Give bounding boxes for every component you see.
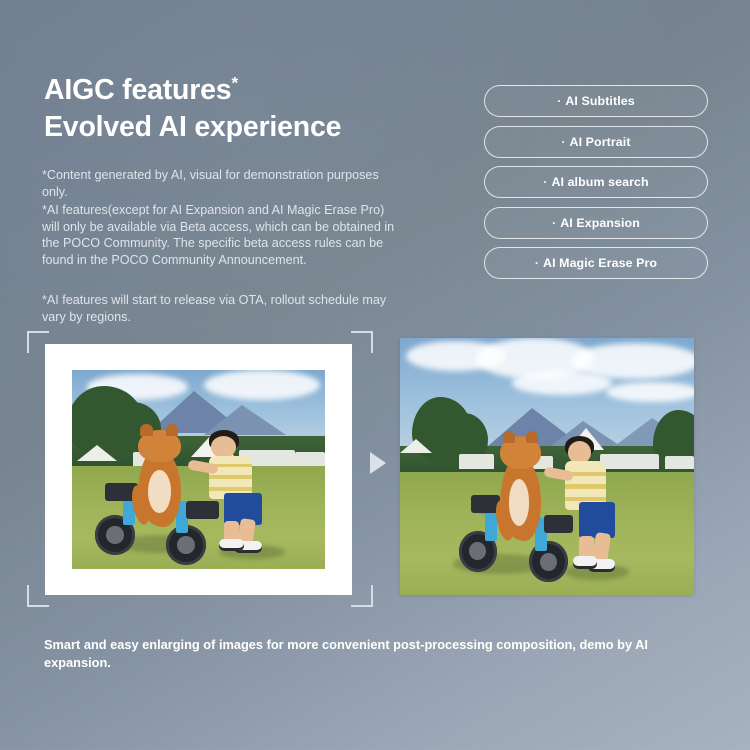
bottom-caption: Smart and easy enlarging of images for m… — [44, 636, 704, 671]
promo-slide: AIGC features* Evolved AI experience *Co… — [0, 0, 750, 750]
bullet-icon: · — [561, 135, 565, 149]
feature-pill-ai-subtitles[interactable]: · AI Subtitles — [484, 85, 708, 117]
feature-pill-ai-expansion[interactable]: · AI Expansion — [484, 207, 708, 239]
photo-scene-after — [400, 338, 694, 595]
legal-note-1: *Content generated by AI, visual for dem… — [42, 167, 402, 200]
dog-chest — [148, 470, 171, 514]
before-photo-frame — [45, 344, 352, 595]
dog-chest — [509, 479, 530, 525]
feature-pill-ai-portrait[interactable]: · AI Portrait — [484, 126, 708, 158]
dog-ear — [166, 424, 179, 436]
bullet-icon: · — [543, 175, 547, 189]
feature-pill-ai-album-search[interactable]: · AI album search — [484, 166, 708, 198]
boy-head — [211, 436, 236, 458]
cloud — [606, 382, 694, 403]
feature-pill-label: AI album search — [551, 175, 648, 189]
feature-pill-label: AI Portrait — [570, 135, 631, 149]
dog-ear — [526, 431, 538, 444]
boy-shirt-stripe — [565, 497, 606, 501]
bullet-icon: · — [535, 256, 539, 270]
legal-note-2: *AI features(except for AI Expansion and… — [42, 202, 398, 268]
boy-shirt-stripe — [209, 475, 252, 479]
page-title-line2: Evolved AI experience — [44, 109, 341, 146]
boy-shirt-stripe — [209, 487, 252, 491]
after-photo — [400, 338, 694, 595]
photo-scene-before — [72, 370, 325, 569]
boy-shirt-stripe — [565, 484, 606, 488]
tricycle-rear-basket — [186, 501, 219, 519]
bullet-icon: · — [552, 216, 556, 230]
crop-corner-icon-bottom-right — [351, 585, 373, 607]
cloud — [512, 371, 612, 394]
camp-structure — [295, 452, 325, 466]
boy-shoe — [219, 539, 244, 551]
page-title-line1: AIGC features* — [44, 72, 341, 109]
tent — [77, 442, 117, 461]
camp-structure — [600, 454, 659, 469]
crop-corner-icon-top-right — [351, 331, 373, 353]
feature-pill-list: · AI Subtitles · AI Portrait · AI album … — [484, 85, 708, 279]
tricycle-rear-basket — [544, 515, 573, 533]
before-photo — [72, 370, 325, 569]
legal-note-3: *AI features will start to release via O… — [42, 292, 402, 325]
page-title-line1-text: AIGC features — [44, 74, 231, 106]
feature-pill-ai-magic-erase-pro[interactable]: · AI Magic Erase Pro — [484, 247, 708, 279]
page-title: AIGC features* Evolved AI experience — [44, 72, 341, 146]
feature-pill-label: AI Expansion — [560, 216, 640, 230]
dog-ear — [503, 431, 515, 444]
camp-structure — [665, 456, 694, 469]
dog-ear — [140, 424, 153, 436]
arrow-right-icon — [370, 452, 386, 474]
bullet-icon: · — [557, 94, 561, 108]
feature-pill-label: AI Magic Erase Pro — [543, 256, 657, 270]
camp-structure — [459, 454, 494, 469]
boy-shoe — [573, 556, 597, 569]
page-title-asterisk: * — [231, 74, 237, 93]
feature-pill-label: AI Subtitles — [565, 94, 634, 108]
tent — [400, 436, 432, 453]
